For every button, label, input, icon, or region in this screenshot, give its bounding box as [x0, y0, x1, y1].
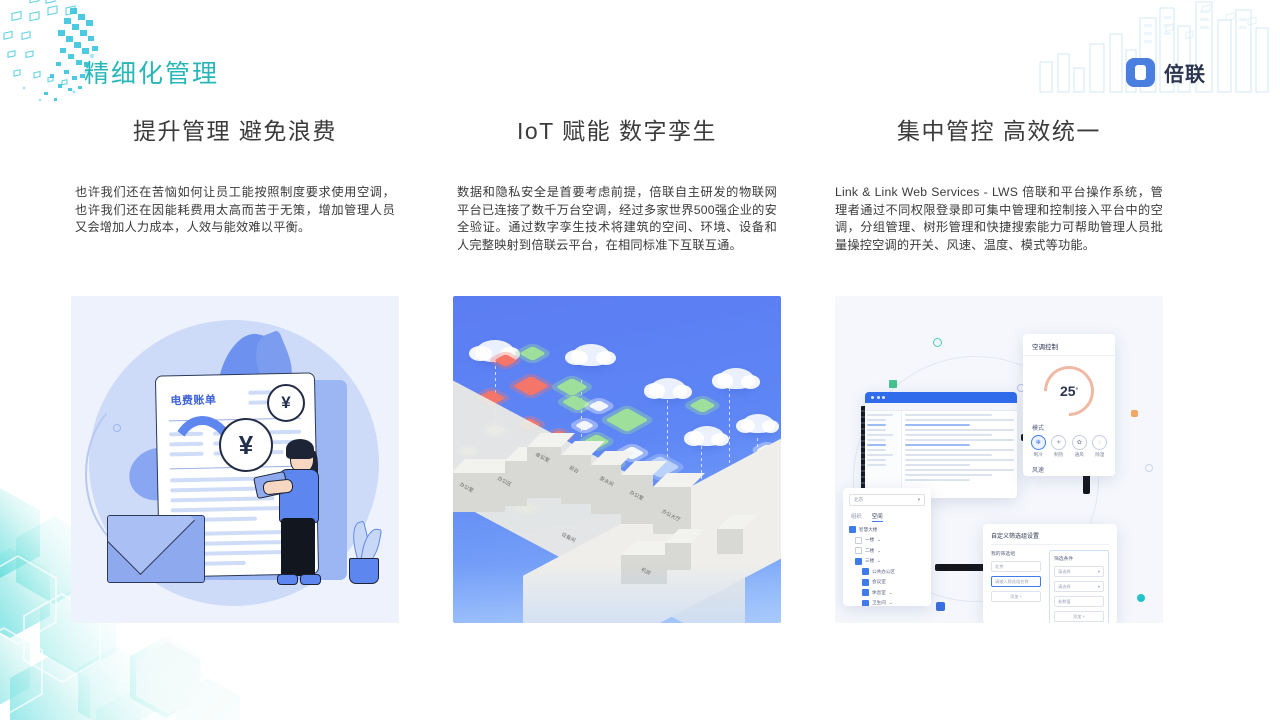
- temperature-unit: °: [1076, 388, 1078, 394]
- tree-node-label: 公共办公区: [872, 569, 895, 575]
- tree-node[interactable]: 公共办公区: [862, 568, 925, 575]
- mode-button-row: ✻ 制冷 ☀ 制热 ✿ 通风 ◌ 除湿: [1023, 435, 1115, 458]
- tree-node-label: 智慧大楼: [859, 527, 877, 533]
- cloud-icon: [649, 378, 687, 399]
- column-heading: 集中管控 高效统一: [897, 112, 1101, 146]
- tree-node-label: 休息室: [872, 590, 886, 596]
- checkbox-icon[interactable]: [855, 537, 862, 544]
- data-chip: [588, 400, 610, 412]
- filter-condition-add-button[interactable]: 添加 +: [1054, 611, 1104, 622]
- brand-logo: 倍联: [1126, 58, 1206, 87]
- digital-twin-isometric-illustration: 办公室 办公区 会议室 前台 茶水间 办公室 办公大厅 设备间 机房: [453, 296, 781, 623]
- mode-button-dry[interactable]: ◌ 除湿: [1092, 435, 1107, 458]
- filter-group-name-input[interactable]: 请输入筛选组名称: [991, 576, 1041, 587]
- column-heading: 提升管理 避免浪费: [133, 112, 337, 146]
- filter-panel-title: 自定义筛选组设置: [991, 531, 1109, 545]
- city-skyline-decoration-icon: [980, 0, 1280, 105]
- browser-toolbar: [865, 403, 1017, 411]
- mode-button-cool[interactable]: ✻ 制冷: [1031, 435, 1046, 458]
- iso-building: [591, 464, 621, 514]
- ground-haze: [453, 563, 781, 623]
- brand-mark-icon: [1126, 58, 1155, 87]
- decor-dot: [1137, 594, 1145, 602]
- column-central-control: 集中管控 高效统一 Link & Link Web Services - LWS…: [810, 112, 1188, 623]
- currency-coin-icon: ¥: [219, 418, 273, 472]
- tree-node[interactable]: 三楼⌄: [855, 558, 925, 565]
- iso-building: [561, 454, 591, 504]
- plant-pot: [349, 558, 379, 584]
- person-hair: [286, 439, 314, 459]
- data-chip: [689, 398, 716, 413]
- chevron-icon: ⌄: [877, 558, 881, 564]
- filter-columns: 我的筛选组 北京 请输入筛选组名称 添加 +: [991, 550, 1109, 623]
- add-label: 添加 +: [1073, 614, 1085, 620]
- snowflake-icon: ✻: [1031, 435, 1046, 450]
- data-chip: [513, 376, 549, 396]
- mode-button-fan[interactable]: ✿ 通风: [1072, 435, 1087, 458]
- tab-space[interactable]: 空间: [872, 512, 883, 522]
- chevron-down-icon: ▾: [918, 497, 920, 503]
- checkbox-icon[interactable]: [862, 568, 869, 575]
- browser-body: [865, 411, 1017, 498]
- custom-filter-settings-panel[interactable]: 自定义筛选组设置 我的筛选组 北京 请输入筛选组名称 添加 +: [983, 524, 1117, 623]
- column-iot-digital-twin: IoT 赋能 数字孪生 数据和隐私安全是首要考虑前提，倍联自主研发的物联网平台已…: [428, 112, 806, 623]
- tree-node-label: 一楼: [865, 537, 874, 543]
- tree-node[interactable]: 智慧大楼: [849, 526, 925, 533]
- platform-ui-mockup-illustration: 空调控制 25° 模式 ✻ 制冷 ☀: [835, 296, 1163, 623]
- filter-condition-column: 筛选条件 请选择 ▾ 请选择 ▾ 参数值: [1049, 550, 1109, 623]
- decor-dot: [889, 380, 897, 388]
- checkbox-icon[interactable]: [849, 526, 856, 533]
- filter-condition-select-2[interactable]: 请选择 ▾: [1054, 581, 1104, 592]
- column-body: 数据和隐私安全是首要考虑前提，倍联自主研发的物联网平台已连接了数千万台空调，经过…: [457, 184, 777, 284]
- person-shoe: [277, 574, 298, 585]
- ac-panel-title: 空调控制: [1023, 334, 1115, 356]
- decor-dot: [1145, 464, 1153, 472]
- tree-tabs: 组织 空间: [851, 512, 925, 522]
- electricity-bill-illustration: 电费账单: [71, 296, 399, 623]
- cloud-icon: [689, 426, 725, 446]
- column-body: Link & Link Web Services - LWS 倍联和平台操作系统…: [835, 184, 1163, 284]
- data-chip: [561, 395, 590, 411]
- decor-dot: [936, 602, 945, 611]
- sun-icon: ☀: [1051, 435, 1066, 450]
- data-chip: [519, 346, 546, 361]
- page-title: 精细化管理: [84, 54, 219, 90]
- tree-node[interactable]: 二楼⌄: [855, 547, 925, 554]
- field-value: 北京: [995, 564, 1003, 570]
- checkbox-icon[interactable]: [862, 579, 869, 586]
- envelope-icon: [107, 515, 205, 583]
- tree-node-label: 二楼: [865, 548, 874, 554]
- tree-node[interactable]: 会议室: [862, 579, 925, 586]
- column-body: 也许我们还在苦恼如何让员工能按照制度要求使用空调，也许我们还在因能耗费用太高而苦…: [75, 184, 395, 284]
- tree-node[interactable]: 休息室⌄: [862, 589, 925, 596]
- data-chip: [605, 408, 649, 432]
- slide-root: 精细化管理 倍联 提升管理 避免浪费 也许我们还在苦恼如何让员工能按照制度要求使…: [0, 0, 1280, 720]
- browser-data-table[interactable]: [902, 411, 1017, 498]
- filter-condition-label: 筛选条件: [1054, 555, 1104, 562]
- data-chip: [574, 420, 594, 431]
- column-heading: IoT 赋能 数字孪生: [517, 112, 717, 146]
- mode-section-label: 模式: [1032, 423, 1115, 432]
- temperature-dial[interactable]: 25°: [1044, 366, 1094, 416]
- column-improve-management: 提升管理 避免浪费 也许我们还在苦恼如何让员工能按照制度要求使用空调，也许我们还…: [46, 112, 424, 623]
- decor-dot: [933, 338, 942, 347]
- space-tree-panel[interactable]: 北京 ▾ 组织 空间 智慧大楼 一楼⌄: [843, 488, 931, 606]
- tree-node-label: 卫生间: [872, 600, 886, 606]
- tree-node[interactable]: 一楼⌄: [855, 537, 925, 544]
- content-columns: 提升管理 避免浪费 也许我们还在苦恼如何让员工能按照制度要求使用空调，也许我们还…: [0, 112, 1280, 623]
- fan-icon: ✿: [1072, 435, 1087, 450]
- lws-browser-window[interactable]: [865, 392, 1017, 498]
- chevron-icon: ⌄: [889, 600, 893, 606]
- field-value: 请选择: [1058, 584, 1071, 590]
- filter-condition-select-1[interactable]: 请选择 ▾: [1054, 566, 1104, 577]
- decor-dot: [1131, 410, 1138, 417]
- fan-section-label: 风速: [1032, 465, 1115, 474]
- filter-condition-value-input[interactable]: 参数值: [1054, 596, 1104, 607]
- mode-label: 通风: [1072, 452, 1087, 458]
- checkbox-icon[interactable]: [862, 589, 869, 596]
- droplet-icon: ◌: [1092, 435, 1107, 450]
- chevron-icon: ⌄: [889, 590, 893, 596]
- region-select[interactable]: 北京 ▾: [849, 494, 925, 506]
- mode-label: 除湿: [1092, 452, 1107, 458]
- checkbox-icon[interactable]: [862, 600, 869, 607]
- mode-button-heat[interactable]: ☀ 制热: [1051, 435, 1066, 458]
- temperature-value: 25°: [1044, 366, 1094, 416]
- filter-group-column: 我的筛选组 北京 请输入筛选组名称 添加 +: [991, 550, 1041, 623]
- bill-title: 电费账单: [170, 392, 216, 409]
- iso-building: [653, 486, 691, 534]
- chevron-icon: ⌄: [877, 537, 881, 543]
- field-value: 请选择: [1058, 569, 1071, 575]
- tab-organization[interactable]: 组织: [851, 512, 862, 522]
- cloud-icon: [741, 414, 775, 433]
- tree-node[interactable]: 卫生间⌄: [862, 600, 925, 607]
- chevron-down-icon: ▾: [1098, 569, 1100, 574]
- field-placeholder: 请输入筛选组名称: [995, 579, 1029, 585]
- filter-group-label: 我的筛选组: [991, 550, 1041, 557]
- person-legs: [281, 518, 315, 576]
- iso-building: [717, 528, 743, 554]
- mode-label: 制热: [1051, 452, 1066, 458]
- window-titlebar: [865, 392, 1017, 403]
- filter-group-add-button[interactable]: 添加 +: [991, 591, 1041, 602]
- cloud-icon: [571, 344, 611, 366]
- mode-label: 制冷: [1031, 452, 1046, 458]
- checkbox-icon[interactable]: [855, 547, 862, 554]
- field-placeholder: 参数值: [1058, 599, 1071, 605]
- tree-node-label: 三楼: [865, 558, 874, 564]
- cloud-icon: [717, 368, 755, 389]
- browser-sidebar-tree[interactable]: [865, 411, 902, 498]
- chevron-down-icon: ▾: [1098, 584, 1100, 589]
- checkbox-icon[interactable]: [855, 558, 862, 565]
- temperature-number: 25: [1060, 383, 1076, 399]
- data-chip: [556, 378, 589, 396]
- brand-name: 倍联: [1164, 58, 1206, 87]
- tree-node-label: 会议室: [872, 579, 886, 585]
- filter-group-field[interactable]: 北京: [991, 561, 1041, 572]
- region-select-value: 北京: [854, 497, 863, 503]
- chevron-icon: ⌄: [877, 548, 881, 554]
- person-shoe: [300, 574, 321, 585]
- ac-control-panel[interactable]: 空调控制 25° 模式 ✻ 制冷 ☀: [1023, 334, 1115, 476]
- isometric-stage: 办公室 办公区 会议室 前台 茶水间 办公室 办公大厅 设备间 机房: [453, 296, 781, 623]
- add-label: 添加 +: [1010, 594, 1022, 600]
